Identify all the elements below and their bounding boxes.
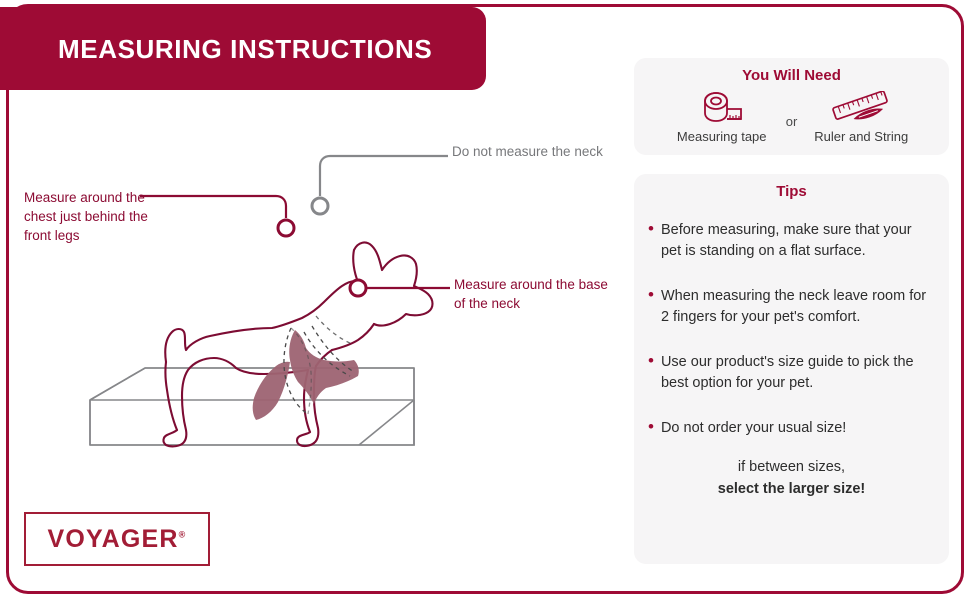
page-title: MEASURING INSTRUCTIONS bbox=[58, 36, 432, 62]
need-caption-measuring-tape: Measuring tape bbox=[662, 129, 782, 144]
logo-wordmark: VOYAGER® bbox=[48, 525, 187, 554]
list-item: • Before measuring, make sure that your … bbox=[648, 220, 935, 262]
do-not-measure-marker bbox=[312, 198, 328, 214]
tip-text: Do not order your usual size! bbox=[661, 418, 846, 439]
tips-footer-line1: if between sizes, bbox=[648, 457, 935, 479]
tip-text: Use our product's size guide to pick the… bbox=[661, 352, 935, 394]
bullet-icon: • bbox=[648, 286, 654, 305]
list-item: • Do not order your usual size! bbox=[648, 418, 935, 439]
you-will-need-panel: You Will Need bbox=[634, 58, 949, 155]
chest-measure-marker bbox=[278, 220, 294, 236]
bullet-icon: • bbox=[648, 352, 654, 371]
bullet-icon: • bbox=[648, 220, 654, 239]
tips-list: • Before measuring, make sure that your … bbox=[648, 220, 935, 501]
registered-trademark-icon: ® bbox=[179, 529, 187, 539]
label-do-not-measure-neck: Do not measure the neck bbox=[452, 142, 612, 161]
header-banner: MEASURING INSTRUCTIONS bbox=[0, 7, 486, 90]
tips-footer-line2: select the larger size! bbox=[648, 479, 935, 501]
measuring-instructions-page: MEASURING INSTRUCTIONS bbox=[0, 0, 970, 600]
measuring-tape-icon bbox=[662, 90, 782, 126]
ruler-and-string-icon bbox=[801, 90, 921, 126]
do-not-measure-leader-line bbox=[320, 156, 448, 196]
tips-title: Tips bbox=[634, 183, 949, 200]
need-items-row: Measuring tape or bbox=[634, 90, 949, 144]
you-will-need-title: You Will Need bbox=[634, 67, 949, 84]
neck-measure-marker bbox=[350, 280, 366, 296]
list-item: • When measuring the neck leave room for… bbox=[648, 286, 935, 328]
need-item-ruler-string: Ruler and String bbox=[801, 90, 921, 144]
tip-text: Before measuring, make sure that your pe… bbox=[661, 220, 935, 262]
platform-box bbox=[90, 368, 414, 445]
need-or-label: or bbox=[782, 114, 802, 129]
label-measure-chest: Measure around the chest just behind the… bbox=[24, 188, 174, 245]
voyager-logo: VOYAGER® bbox=[24, 512, 210, 566]
bullet-icon: • bbox=[648, 418, 654, 437]
need-caption-ruler-string: Ruler and String bbox=[801, 129, 921, 144]
list-item: • Use our product's size guide to pick t… bbox=[648, 352, 935, 394]
measurement-diagram: Measure around the chest just behind the… bbox=[14, 100, 624, 500]
tip-text: When measuring the neck leave room for 2… bbox=[661, 286, 935, 328]
need-item-measuring-tape: Measuring tape bbox=[662, 90, 782, 144]
tips-panel: Tips • Before measuring, make sure that … bbox=[634, 174, 949, 564]
logo-text-label: VOYAGER bbox=[48, 525, 179, 553]
tips-footer: if between sizes, select the larger size… bbox=[648, 457, 935, 501]
label-measure-neck-base: Measure around the base of the neck bbox=[454, 275, 614, 313]
